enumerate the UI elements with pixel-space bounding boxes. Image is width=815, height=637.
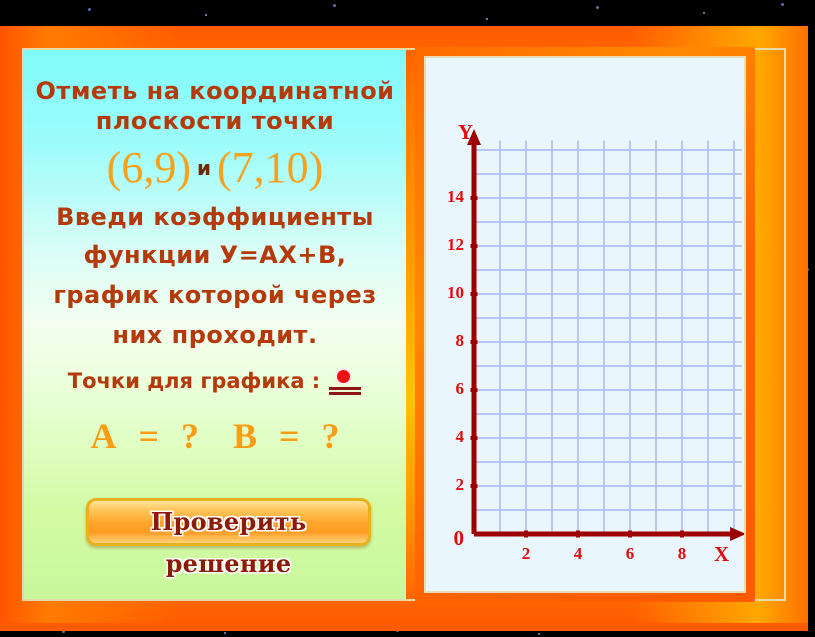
check-solution-button[interactable]: Проверить решение bbox=[86, 498, 371, 546]
gridlines bbox=[474, 140, 742, 534]
task-line-6: них проходит. bbox=[24, 320, 406, 351]
y-axis-tick bbox=[471, 292, 478, 296]
star bbox=[781, 3, 784, 6]
coordinate-plane-panel: Y X 246810121424680 bbox=[415, 47, 755, 602]
check-solution-button-label: Проверить решение bbox=[89, 501, 368, 585]
task-line-1: Отметь на координатной bbox=[24, 76, 406, 107]
x-tick-label: 6 bbox=[614, 544, 646, 564]
y-axis-tick bbox=[471, 244, 478, 248]
task-line-2: плоскости точки bbox=[24, 106, 406, 137]
star bbox=[333, 4, 336, 7]
coordinate-plane-canvas[interactable]: Y X 246810121424680 bbox=[424, 56, 746, 593]
star bbox=[538, 633, 540, 635]
star bbox=[596, 6, 599, 9]
points-for-graph-row: Точки для графика : bbox=[24, 368, 406, 394]
y-axis-tick bbox=[471, 340, 478, 344]
input-underline bbox=[329, 392, 361, 395]
input-underline bbox=[329, 387, 361, 390]
x-axis-tick bbox=[628, 531, 632, 538]
points-conjunction: и bbox=[191, 156, 217, 180]
x-tick-label: 2 bbox=[510, 544, 542, 564]
star bbox=[224, 632, 226, 634]
star bbox=[486, 18, 488, 20]
x-tick-label: 4 bbox=[562, 544, 594, 564]
y-axis-tick bbox=[471, 388, 478, 392]
points-for-graph-label: Точки для графика : bbox=[68, 369, 320, 393]
x-axis-tick bbox=[680, 531, 684, 538]
y-tick-label: 4 bbox=[432, 427, 464, 447]
target-points: (6,9)и(7,10) bbox=[24, 142, 406, 193]
star bbox=[88, 8, 91, 11]
x-axis-label: X bbox=[714, 542, 729, 567]
x-tick-label: 8 bbox=[666, 544, 698, 564]
coefficients-row: A=?B=? bbox=[24, 415, 406, 457]
y-axis-tick bbox=[471, 484, 478, 488]
coefficient-b-equals: = bbox=[279, 415, 300, 457]
axes bbox=[467, 129, 744, 541]
y-tick-label: 10 bbox=[432, 283, 464, 303]
y-axis-tick bbox=[471, 436, 478, 440]
coefficient-a-input[interactable]: ? bbox=[181, 415, 199, 457]
task-line-3: Введи коэффициенты bbox=[24, 202, 406, 233]
point-a: (6,9) bbox=[107, 143, 191, 192]
task-line-4: функции У=АХ+В, bbox=[24, 240, 406, 271]
y-tick-label: 8 bbox=[432, 331, 464, 351]
x-axis-tick bbox=[524, 531, 528, 538]
y-tick-label: 2 bbox=[432, 475, 464, 495]
slide-stage: Отметь на координатной плоскости точки (… bbox=[0, 0, 815, 637]
y-axis-tick bbox=[471, 196, 478, 200]
x-axis-tick bbox=[576, 531, 580, 538]
task-line-5: график которой через bbox=[24, 280, 406, 311]
coefficient-b-input[interactable]: ? bbox=[322, 415, 340, 457]
coordinate-grid-svg[interactable] bbox=[426, 58, 744, 591]
y-tick-label: 6 bbox=[432, 379, 464, 399]
star bbox=[703, 12, 705, 14]
x-axis-arrow-icon bbox=[730, 527, 744, 541]
frame-bottom-strip bbox=[0, 623, 808, 631]
y-axis-label: Y bbox=[458, 120, 473, 145]
y-tick-label: 12 bbox=[432, 235, 464, 255]
coefficient-b-label: B bbox=[233, 415, 257, 457]
y-tick-label: 14 bbox=[432, 187, 464, 207]
point-b: (7,10) bbox=[217, 143, 323, 192]
star bbox=[205, 14, 207, 16]
red-dot-icon bbox=[337, 370, 350, 383]
coefficient-a-equals: = bbox=[138, 415, 159, 457]
task-panel: Отметь на координатной плоскости точки (… bbox=[24, 50, 406, 599]
coefficient-a-label: A bbox=[90, 415, 116, 457]
origin-label: 0 bbox=[432, 526, 464, 551]
point-marker-input[interactable] bbox=[328, 368, 362, 394]
